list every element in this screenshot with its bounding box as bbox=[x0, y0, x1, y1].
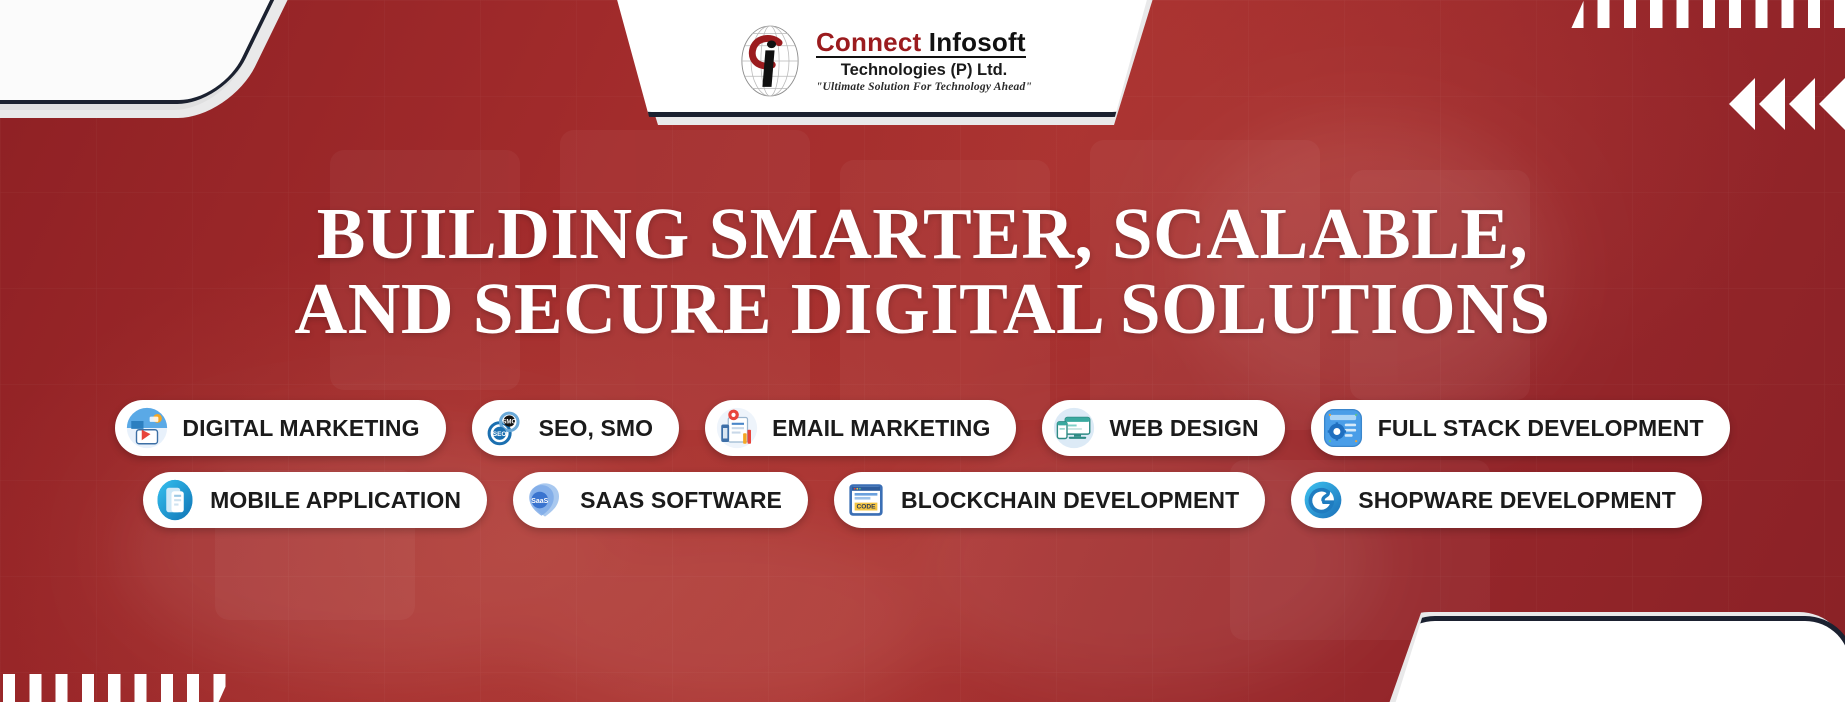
service-pill-blockchain-development[interactable]: CODEBLOCKCHAIN DEVELOPMENT bbox=[834, 472, 1265, 528]
service-pill-label: DIGITAL MARKETING bbox=[182, 415, 419, 442]
service-pill-label: SAAS SOFTWARE bbox=[580, 487, 782, 514]
mobile-application-icon bbox=[154, 479, 196, 521]
brand-logo[interactable]: Connect Infosoft Technologies (P) Ltd. "… bbox=[598, 6, 1166, 116]
service-pill-shopware-development[interactable]: SHOPWARE DEVELOPMENT bbox=[1291, 472, 1702, 528]
service-pill-label: MOBILE APPLICATION bbox=[210, 487, 461, 514]
service-pill-label: WEB DESIGN bbox=[1109, 415, 1258, 442]
service-pill-label: SEO, SMO bbox=[539, 415, 654, 442]
service-pill-seo-smo[interactable]: SEOSMOSEO, SMO bbox=[472, 400, 680, 456]
service-pill-full-stack-development[interactable]: FULL STACK DEVELOPMENT bbox=[1311, 400, 1730, 456]
diagonal-stripes-bottom-left-icon bbox=[0, 674, 231, 702]
hero-headline: BUILDING SMARTER, SCALABLE, AND SECURE D… bbox=[0, 196, 1845, 346]
service-pill-label: SHOPWARE DEVELOPMENT bbox=[1358, 487, 1676, 514]
service-pill-row-1: DIGITAL MARKETINGSEOSMOSEO, SMOEMAIL MAR… bbox=[0, 400, 1845, 456]
service-pill-list: DIGITAL MARKETINGSEOSMOSEO, SMOEMAIL MAR… bbox=[0, 400, 1845, 544]
service-pill-label: FULL STACK DEVELOPMENT bbox=[1378, 415, 1704, 442]
brand-logo-text: Connect Infosoft Technologies (P) Ltd. "… bbox=[816, 29, 1032, 94]
hero-headline-line2: AND SECURE DIGITAL SOLUTIONS bbox=[0, 271, 1845, 346]
brand-subtitle: Technologies (P) Ltd. bbox=[816, 62, 1032, 79]
saas-software-icon: SaaS bbox=[524, 479, 566, 521]
hero-headline-line1: BUILDING SMARTER, SCALABLE, bbox=[0, 196, 1845, 271]
svg-text:SMO: SMO bbox=[502, 419, 516, 426]
service-pill-label: BLOCKCHAIN DEVELOPMENT bbox=[901, 487, 1239, 514]
corner-bottom-right bbox=[1385, 616, 1845, 702]
hero-banner: Connect Infosoft Technologies (P) Ltd. "… bbox=[0, 0, 1845, 702]
service-pill-saas-software[interactable]: SaaSSAAS SOFTWARE bbox=[513, 472, 808, 528]
email-marketing-icon bbox=[716, 407, 758, 449]
svg-text:CODE: CODE bbox=[857, 503, 877, 510]
globe-letter-i-logo-icon bbox=[732, 23, 808, 99]
service-pill-label: EMAIL MARKETING bbox=[772, 415, 990, 442]
full-stack-development-icon bbox=[1322, 407, 1364, 449]
service-pill-row-2: MOBILE APPLICATIONSaaSSAAS SOFTWARECODEB… bbox=[0, 472, 1845, 528]
diagonal-stripes-top-right-icon bbox=[1571, 0, 1845, 28]
brand-name-part2: Infosoft bbox=[929, 27, 1026, 57]
svg-text:SEO: SEO bbox=[492, 431, 506, 438]
triple-left-chevron-icon bbox=[1729, 78, 1845, 130]
web-design-icon bbox=[1053, 407, 1095, 449]
seo-smo-icon: SEOSMO bbox=[483, 407, 525, 449]
shopware-development-icon bbox=[1302, 479, 1344, 521]
digital-marketing-icon bbox=[126, 407, 168, 449]
service-pill-digital-marketing[interactable]: DIGITAL MARKETING bbox=[115, 400, 445, 456]
service-pill-email-marketing[interactable]: EMAIL MARKETING bbox=[705, 400, 1016, 456]
svg-text:SaaS: SaaS bbox=[531, 498, 548, 505]
service-pill-mobile-application[interactable]: MOBILE APPLICATION bbox=[143, 472, 487, 528]
blockchain-development-icon: CODE bbox=[845, 479, 887, 521]
service-pill-web-design[interactable]: WEB DESIGN bbox=[1042, 400, 1284, 456]
brand-name-part1: Connect bbox=[816, 27, 921, 57]
brand-tagline: "Ultimate Solution For Technology Ahead" bbox=[816, 82, 1032, 94]
